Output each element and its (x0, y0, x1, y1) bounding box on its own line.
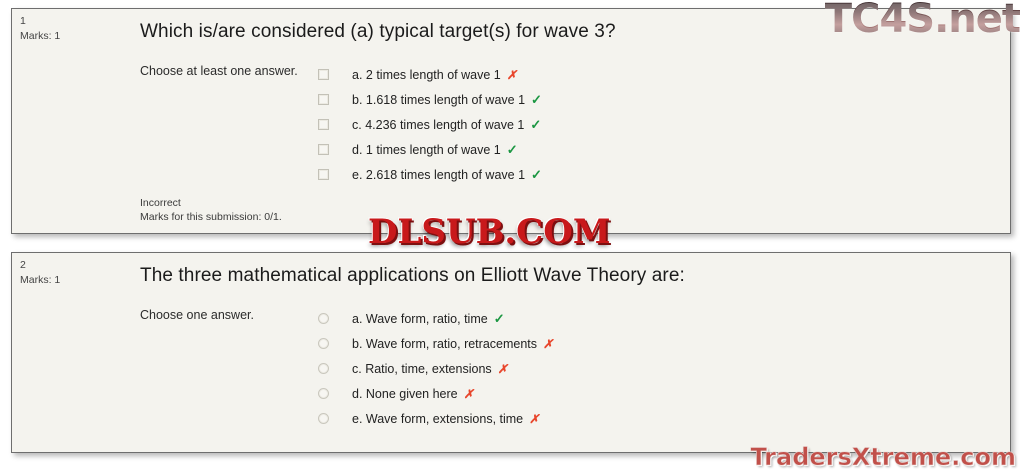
radio-wrap[interactable] (318, 413, 352, 424)
check-icon: ✓ (494, 311, 505, 327)
radio-wrap[interactable] (318, 388, 352, 399)
answer-option-label: a. 2 times length of wave 1 (352, 67, 501, 83)
checkbox-icon[interactable] (318, 69, 329, 80)
cross-icon: ✗ (543, 337, 553, 351)
answer-option[interactable]: b. 1.618 times length of wave 1 ✓ (318, 87, 1010, 112)
question-meta-2: 2 Marks: 1 (12, 253, 120, 452)
check-icon: ✓ (531, 92, 542, 108)
radio-button-icon[interactable] (318, 313, 329, 324)
question-title: Which is/are considered (a) typical targ… (120, 9, 1010, 44)
question-marks-label: Marks: 1 (20, 28, 120, 44)
answer-option-label: d. None given here (352, 386, 458, 402)
answer-option-label: e. Wave form, extensions, time (352, 411, 523, 427)
question-number: 2 (20, 259, 120, 272)
question-body-1: Choose at least one answer. a. 2 times l… (120, 62, 1010, 187)
answer-option[interactable]: c. 4.236 times length of wave 1 ✓ (318, 112, 1010, 137)
question-title: The three mathematical applications on E… (120, 253, 1010, 288)
checkbox-icon[interactable] (318, 169, 329, 180)
check-icon: ✓ (531, 167, 542, 183)
answer-instruction: Choose one answer. (140, 306, 318, 431)
radio-wrap[interactable] (318, 338, 352, 349)
question-content-2: The three mathematical applications on E… (120, 253, 1010, 452)
feedback-marks: Marks for this submission: 0/1. (140, 211, 282, 225)
checkbox-wrap[interactable] (318, 119, 352, 130)
radio-button-icon[interactable] (318, 338, 329, 349)
question-feedback-1: Incorrect Marks for this submission: 0/1… (140, 197, 282, 224)
checkbox-wrap[interactable] (318, 144, 352, 155)
answer-option-label: a. Wave form, ratio, time (352, 311, 488, 327)
checkbox-icon[interactable] (318, 144, 329, 155)
radio-wrap[interactable] (318, 363, 352, 374)
answer-option-label: c. Ratio, time, extensions (352, 361, 492, 377)
feedback-status: Incorrect (140, 197, 282, 211)
answer-option[interactable]: d. 1 times length of wave 1 ✓ (318, 137, 1010, 162)
question-marks-label: Marks: 1 (20, 272, 120, 288)
checkbox-wrap[interactable] (318, 69, 352, 80)
answer-instruction: Choose at least one answer. (140, 62, 318, 187)
check-icon: ✓ (507, 142, 518, 158)
checkbox-wrap[interactable] (318, 169, 352, 180)
radio-button-icon[interactable] (318, 413, 329, 424)
answer-option[interactable]: b. Wave form, ratio, retracements ✗ (318, 331, 1010, 356)
cross-icon: ✗ (498, 362, 508, 376)
cross-icon: ✗ (464, 387, 474, 401)
answer-option[interactable]: d. None given here ✗ (318, 381, 1010, 406)
question-content-1: Which is/are considered (a) typical targ… (120, 9, 1010, 233)
radio-wrap[interactable] (318, 313, 352, 324)
answer-options-1: a. 2 times length of wave 1 ✗ b. 1.618 t… (318, 62, 1010, 187)
cross-icon: ✗ (529, 412, 539, 426)
question-meta-1: 1 Marks: 1 (12, 9, 120, 233)
answer-option-label: e. 2.618 times length of wave 1 (352, 167, 525, 183)
answer-option[interactable]: a. 2 times length of wave 1 ✗ (318, 62, 1010, 87)
question-body-2: Choose one answer. a. Wave form, ratio, … (120, 306, 1010, 431)
radio-button-icon[interactable] (318, 363, 329, 374)
answer-option[interactable]: e. Wave form, extensions, time ✗ (318, 406, 1010, 431)
answer-option-label: b. Wave form, ratio, retracements (352, 336, 537, 352)
question-card-2: 2 Marks: 1 The three mathematical applic… (11, 252, 1011, 453)
answer-option-label: d. 1 times length of wave 1 (352, 142, 501, 158)
question-card-1: 1 Marks: 1 Which is/are considered (a) t… (11, 8, 1011, 234)
checkbox-wrap[interactable] (318, 94, 352, 105)
quiz-review-page: 1 Marks: 1 Which is/are considered (a) t… (0, 0, 1024, 473)
answer-options-2: a. Wave form, ratio, time ✓ b. Wave form… (318, 306, 1010, 431)
question-number: 1 (20, 15, 120, 28)
answer-option[interactable]: c. Ratio, time, extensions ✗ (318, 356, 1010, 381)
answer-option-label: b. 1.618 times length of wave 1 (352, 92, 525, 108)
check-icon: ✓ (530, 117, 541, 133)
answer-option-label: c. 4.236 times length of wave 1 (352, 117, 524, 133)
checkbox-icon[interactable] (318, 119, 329, 130)
radio-button-icon[interactable] (318, 388, 329, 399)
checkbox-icon[interactable] (318, 94, 329, 105)
cross-icon: ✗ (507, 68, 517, 82)
answer-option[interactable]: e. 2.618 times length of wave 1 ✓ (318, 162, 1010, 187)
answer-option[interactable]: a. Wave form, ratio, time ✓ (318, 306, 1010, 331)
